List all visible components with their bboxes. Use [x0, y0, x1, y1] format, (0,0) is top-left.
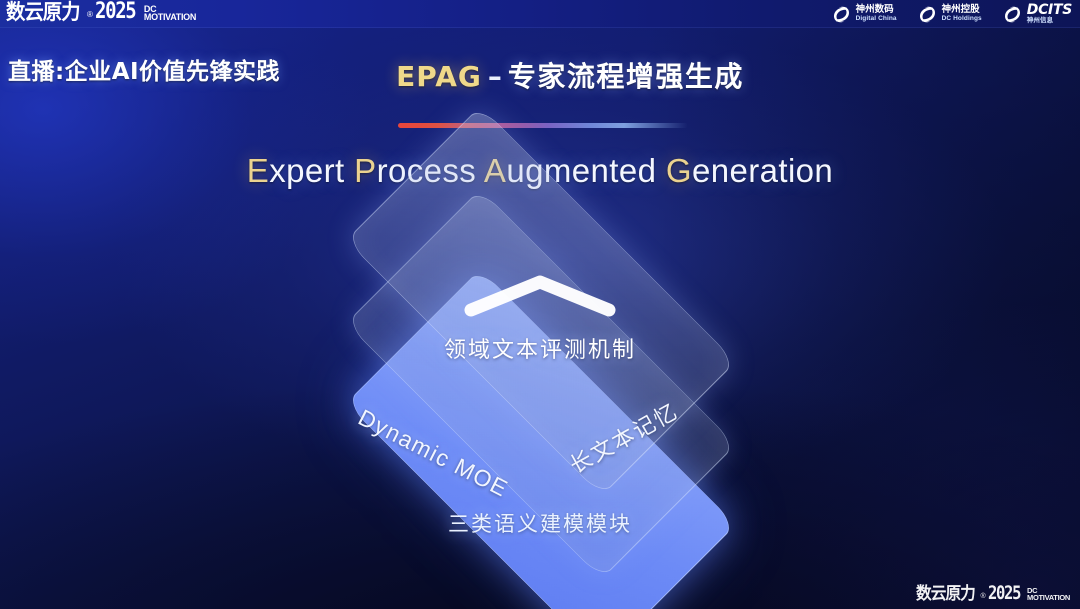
brand-year: 2025 [95, 1, 135, 23]
partner-name-en: DC Holdings [942, 15, 982, 23]
partner-logo-digital-china: 神州数码 Digital China [831, 4, 897, 25]
subtitle-cap-e: E [247, 152, 269, 189]
partner-logo-text: 神州数码 Digital China [856, 5, 897, 23]
partner-logo-dc-holdings: 神州控股 DC Holdings [917, 4, 982, 25]
subtitle-cap-p: P [354, 152, 376, 189]
page-title: EPAG–专家流程增强生成 [0, 55, 1080, 95]
diagram-label-top: 领域文本评测机制 [0, 332, 1080, 364]
subtitle-rest-augmented: ugmented [506, 152, 666, 189]
diagram-label-bottom: 三类语义建模模块 [0, 508, 1080, 538]
chevron-up-icon [463, 274, 617, 318]
brand-logo: 数云原力 ® 2025 DC MOTIVATION [6, 1, 196, 23]
subtitle-rest-expert: xpert [269, 152, 354, 189]
partner-name-cn: 神州数码 [856, 5, 897, 15]
page-subtitle: Expert Process Augmented Generation [0, 152, 1080, 190]
partner-logo-text: DCITS 神州信息 [1027, 3, 1072, 25]
partner-name-en: DCITS [1027, 3, 1072, 17]
page-title-dash: – [488, 60, 502, 93]
partner-name-cn: 神州信息 [1027, 17, 1072, 25]
accent-divider [398, 123, 688, 128]
watermark-motivation-label: MOTIVATION [1027, 594, 1070, 602]
watermark-name-cn: 数云原力 [916, 585, 975, 603]
partner-logo-dcits: DCITS 神州信息 [1002, 3, 1072, 25]
swirl-logo-icon [917, 4, 938, 25]
swirl-logo-icon [1002, 4, 1023, 25]
brand-name-cn: 数云原力 [6, 1, 80, 23]
subtitle-rest-process: rocess [377, 152, 484, 189]
slide-stage: 数云原力 ® 2025 DC MOTIVATION 神州数码 Digital C… [0, 0, 1080, 609]
partner-logo-text: 神州控股 DC Holdings [942, 5, 982, 23]
partner-name-cn: 神州控股 [942, 5, 982, 15]
watermark-logo: 数云原力 ® 2025 DC MOTIVATION [916, 585, 1071, 603]
diagram-label-long-text-memory: 长文本记忆 [563, 394, 683, 480]
brand-registered-mark: ® [87, 7, 93, 23]
partner-logos: 神州数码 Digital China 神州控股 DC Holdings DCIT… [831, 3, 1072, 25]
swirl-logo-icon [831, 4, 852, 25]
subtitle-rest-generation: eneration [692, 152, 833, 189]
watermark-year: 2025 [988, 585, 1020, 603]
subtitle-cap-a: A [484, 152, 506, 189]
partner-name-en: Digital China [856, 15, 897, 23]
watermark-registered-mark: ® [981, 590, 986, 603]
diagram-label-dynamic-moe: Dynamic MOE [354, 404, 513, 503]
page-title-chinese: 专家流程增强生成 [508, 60, 744, 93]
brand-dc-motivation: DC MOTIVATION [144, 5, 196, 22]
subtitle-cap-g: G [666, 152, 692, 189]
brand-motivation-label: MOTIVATION [144, 13, 196, 22]
page-title-acronym: EPAG [396, 60, 482, 93]
watermark-dc-motivation: DC MOTIVATION [1027, 587, 1070, 602]
